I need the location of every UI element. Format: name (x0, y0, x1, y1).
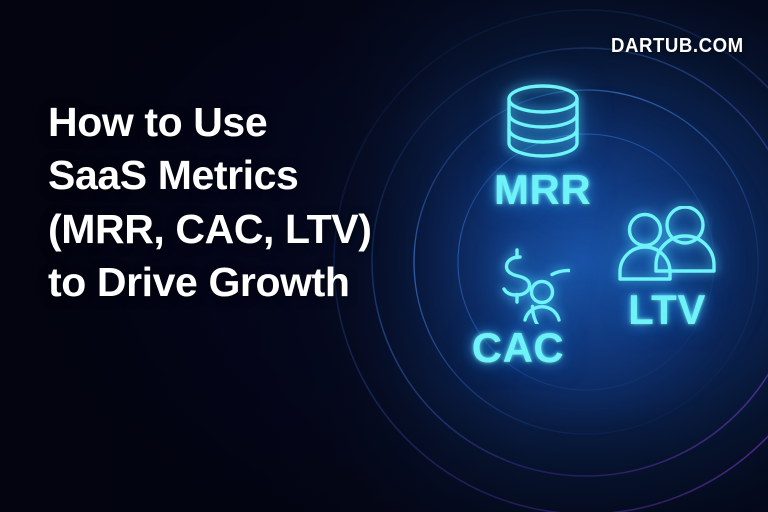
dollar-circle-person-icon (466, 228, 570, 324)
metric-node-cac: CAC (466, 228, 570, 372)
database-cylinder-icon (495, 82, 591, 162)
headline-line-2: SaaS Metrics (48, 149, 448, 202)
two-people-group-icon (612, 206, 722, 288)
headline-line-1: How to Use (48, 96, 448, 149)
headline-line-4: to Drive Growth (48, 256, 448, 309)
metric-node-ltv: LTV (612, 206, 722, 334)
metric-label-cac: CAC (472, 324, 565, 372)
metric-node-mrr: MRR (494, 82, 591, 214)
page-title: How to Use SaaS Metrics (MRR, CAC, LTV) … (48, 96, 448, 309)
banner-canvas: DARTUB.COM How to Use SaaS Metrics (MRR,… (0, 0, 768, 512)
headline-line-3: (MRR, CAC, LTV) (48, 203, 448, 256)
brand-watermark: DARTUB.COM (611, 35, 744, 58)
metric-label-mrr: MRR (494, 166, 591, 214)
metric-label-ltv: LTV (628, 286, 706, 334)
